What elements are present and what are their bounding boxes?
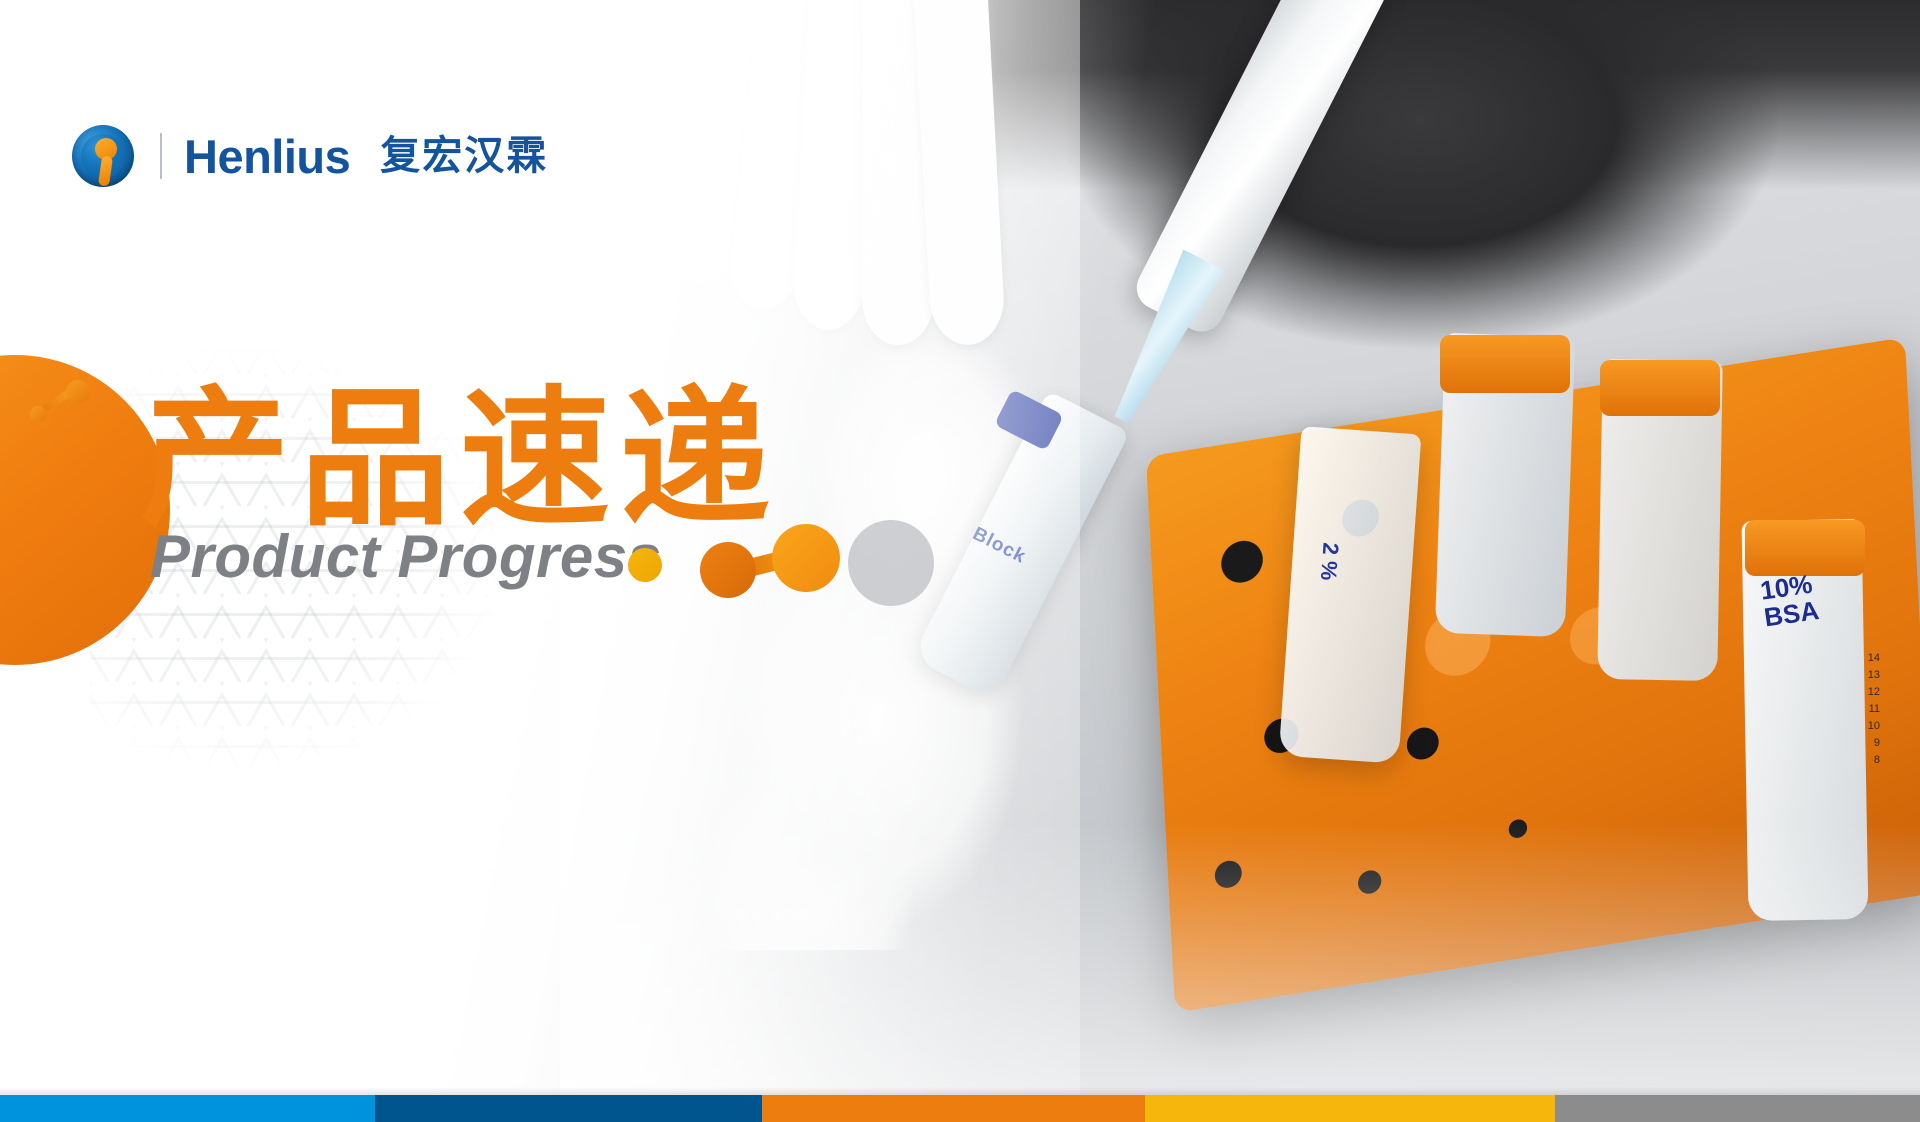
brand-name-en: Henlius [184, 133, 350, 180]
segment-orange [762, 1095, 1145, 1122]
page-title: 产品速递 [140, 385, 780, 535]
segment-light-blue [0, 1095, 375, 1122]
henlius-logo-mark [72, 125, 134, 187]
gold-dot-decoration [628, 548, 662, 582]
slide-canvas: 10% BSA 141312111098 2 % Block Henlius 复… [0, 0, 1920, 1122]
segment-gray [1555, 1095, 1920, 1122]
bottom-color-bar [0, 1095, 1920, 1122]
logo-divider [160, 133, 162, 179]
bottom-bar-shadow [0, 1087, 1920, 1095]
segment-dark-blue [375, 1095, 762, 1122]
brand-logo[interactable]: Henlius 复宏汉霖 [72, 120, 548, 192]
page-subtitle: Product Progress [150, 522, 661, 591]
gray-circle-decoration [848, 520, 934, 606]
small-molecule-icon [30, 380, 100, 436]
brand-name-cn: 复宏汉霖 [380, 136, 548, 176]
photo-bottom-fade [560, 822, 1920, 1122]
molecule-decoration [700, 524, 840, 598]
segment-gold [1145, 1095, 1555, 1122]
